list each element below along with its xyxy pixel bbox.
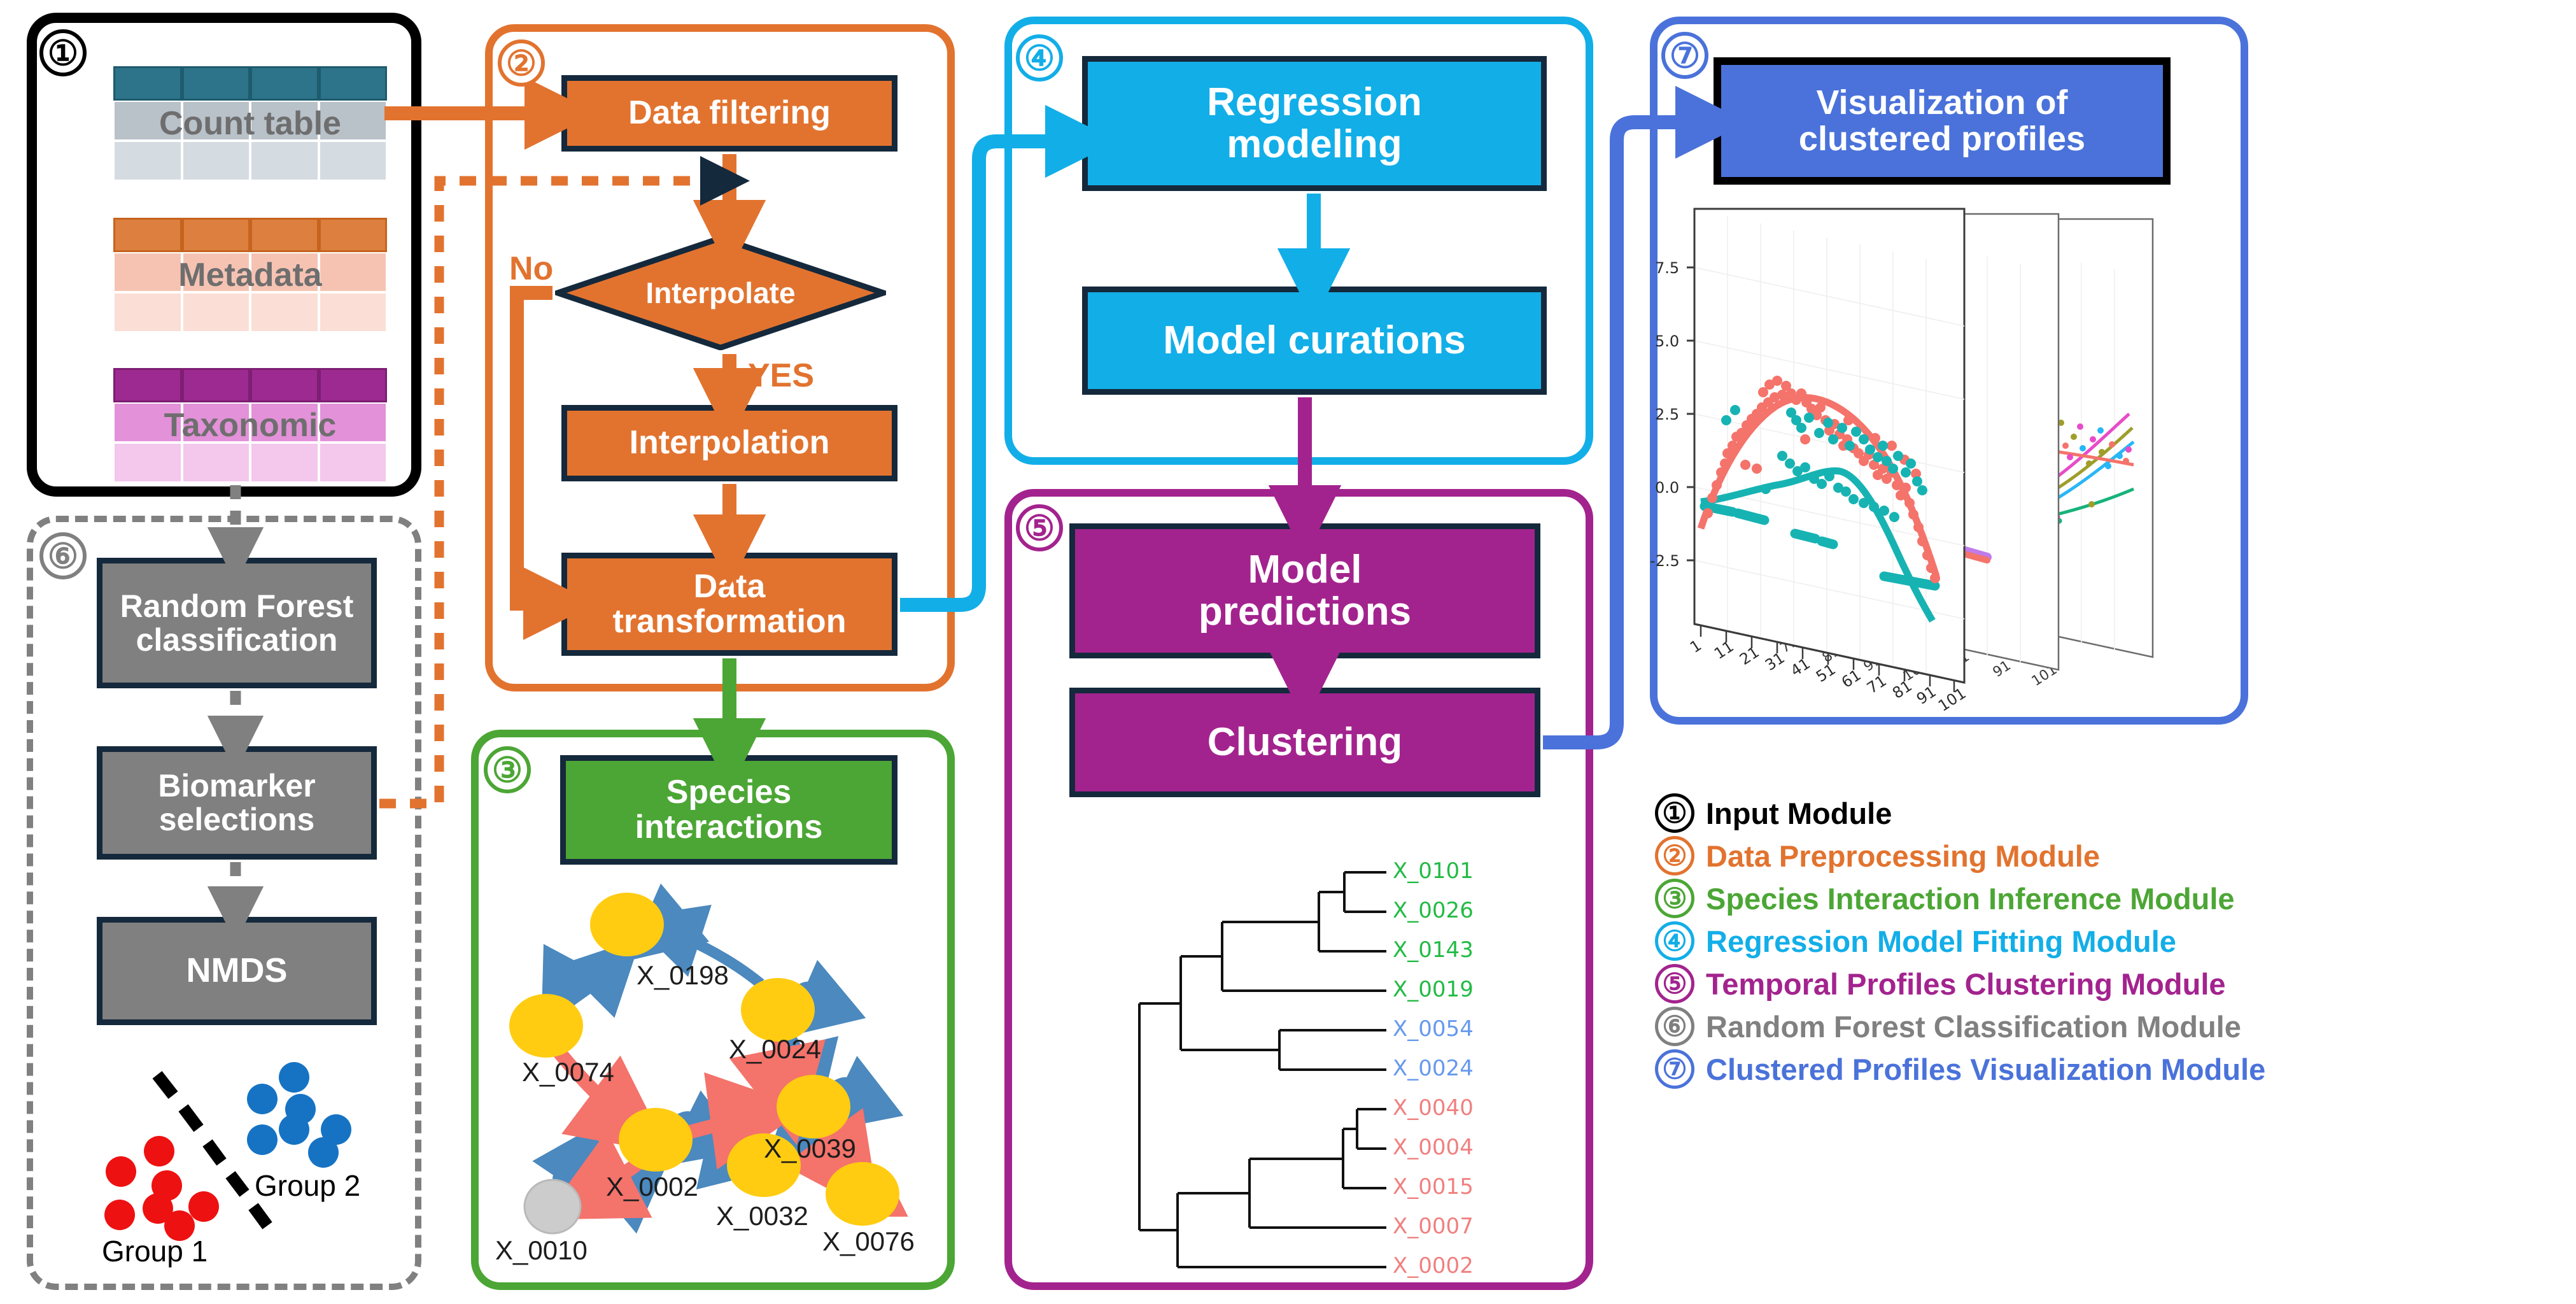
dendrogram-leaf-label: X_0002 bbox=[1393, 1253, 1474, 1279]
network-node-label: X_0076 bbox=[822, 1226, 915, 1257]
input-table-metadata-label: Metadata bbox=[113, 218, 387, 332]
no-branch-label: No bbox=[509, 250, 553, 288]
legend-badge-5: ⑤ bbox=[1655, 964, 1694, 1003]
legend-label-3: Species Interaction Inference Module bbox=[1706, 881, 2235, 916]
model-curations-box[interactable]: Model curations bbox=[1082, 287, 1547, 395]
nmds-group2-label: Group 2 bbox=[255, 1168, 360, 1203]
nmds-group1-label: Group 1 bbox=[102, 1234, 208, 1268]
legend-badge-7: ⑦ bbox=[1655, 1049, 1694, 1089]
module-2-badge: ② bbox=[498, 39, 545, 87]
clustering-box[interactable]: Clustering bbox=[1069, 688, 1540, 797]
network-node-label: X_0024 bbox=[729, 1034, 821, 1065]
legend-badge-2: ② bbox=[1655, 836, 1694, 875]
regression-modeling-box[interactable]: Regression modeling bbox=[1082, 56, 1547, 191]
data-transformation-box[interactable]: Data transformation bbox=[561, 553, 897, 656]
input-table-taxonomic: Taxonomic bbox=[113, 368, 387, 483]
module-6-badge: ⑥ bbox=[39, 532, 87, 579]
legend-badge-6: ⑥ bbox=[1655, 1007, 1694, 1046]
data-filtering-box[interactable]: Data filtering bbox=[561, 75, 897, 152]
dendrogram-leaf-label: X_0054 bbox=[1393, 1016, 1474, 1042]
network-node-label: X_0032 bbox=[716, 1201, 808, 1231]
legend-label-4: Regression Model Fitting Module bbox=[1706, 924, 2176, 959]
interpolate-decision[interactable]: Interpolate bbox=[555, 236, 886, 350]
module-4-badge: ④ bbox=[1016, 34, 1063, 81]
legend-item-2: ② Data Preprocessing Module bbox=[1655, 839, 2265, 873]
biomarker-selections-box[interactable]: Biomarker selections bbox=[97, 746, 377, 860]
input-table-taxonomic-label: Taxonomic bbox=[113, 368, 387, 483]
legend-item-5: ⑤ Temporal Profiles Clustering Module bbox=[1655, 967, 2265, 1001]
model-predictions-box[interactable]: Model predictions bbox=[1069, 523, 1540, 658]
legend-item-1: ① Input Module bbox=[1655, 796, 2265, 830]
dendrogram-leaf-label: X_0143 bbox=[1393, 937, 1474, 963]
legend-label-7: Clustered Profiles Visualization Module bbox=[1706, 1052, 2265, 1087]
legend-label-6: Random Forest Classification Module bbox=[1706, 1009, 2241, 1044]
visualization-box[interactable]: Visualization of clustered profiles bbox=[1714, 57, 2171, 185]
network-node-label: X_0002 bbox=[606, 1172, 698, 1202]
legend-item-7: ⑦ Clustered Profiles Visualization Modul… bbox=[1655, 1052, 2265, 1086]
module-legend: ① Input Module ② Data Preprocessing Modu… bbox=[1655, 796, 2265, 1095]
species-interactions-box[interactable]: Species interactions bbox=[560, 755, 897, 865]
legend-label-2: Data Preprocessing Module bbox=[1706, 839, 2100, 874]
network-node-label: X_0039 bbox=[764, 1133, 856, 1164]
input-table-metadata: Metadata bbox=[113, 218, 387, 332]
module-3-badge: ③ bbox=[484, 746, 531, 793]
network-node-label: X_0074 bbox=[522, 1057, 614, 1088]
dendrogram-leaf-label: X_0015 bbox=[1393, 1174, 1474, 1200]
network-node-label: X_0198 bbox=[637, 960, 729, 991]
module-5-badge: ⑤ bbox=[1016, 504, 1063, 551]
legend-item-4: ④ Regression Model Fitting Module bbox=[1655, 924, 2265, 958]
input-table-count: Count table bbox=[113, 66, 387, 181]
dendrogram-leaf-label: X_0019 bbox=[1393, 977, 1474, 1002]
module-1-badge: ① bbox=[39, 29, 87, 76]
dendrogram-leaf-label: X_0024 bbox=[1393, 1056, 1474, 1081]
workflow-diagram: ① Count table bbox=[0, 0, 2576, 1304]
dendrogram-leaf-label: X_0040 bbox=[1393, 1095, 1474, 1121]
network-node-label: X_0010 bbox=[495, 1235, 588, 1266]
legend-label-5: Temporal Profiles Clustering Module bbox=[1706, 967, 2226, 1002]
legend-item-6: ⑥ Random Forest Classification Module bbox=[1655, 1009, 2265, 1044]
legend-badge-1: ① bbox=[1655, 793, 1694, 833]
dendrogram-leaf-label: X_0101 bbox=[1393, 858, 1474, 884]
legend-badge-4: ④ bbox=[1655, 921, 1694, 961]
legend-item-3: ③ Species Interaction Inference Module bbox=[1655, 881, 2265, 916]
interpolate-label: Interpolate bbox=[555, 236, 886, 350]
dendrogram-leaf-label: X_0007 bbox=[1393, 1214, 1474, 1239]
dendrogram-leaf-label: X_0026 bbox=[1393, 898, 1474, 923]
yes-branch-label: YES bbox=[748, 357, 814, 395]
interpolation-box[interactable]: Interpolation bbox=[561, 405, 897, 481]
nmds-box[interactable]: NMDS bbox=[97, 917, 377, 1025]
input-table-count-label: Count table bbox=[113, 66, 387, 181]
dendrogram-leaf-label: X_0004 bbox=[1393, 1135, 1474, 1160]
rf-classification-box[interactable]: Random Forest classification bbox=[97, 558, 377, 688]
legend-badge-3: ③ bbox=[1655, 879, 1694, 918]
module-7-badge: ⑦ bbox=[1661, 32, 1708, 79]
legend-label-1: Input Module bbox=[1706, 796, 1892, 831]
